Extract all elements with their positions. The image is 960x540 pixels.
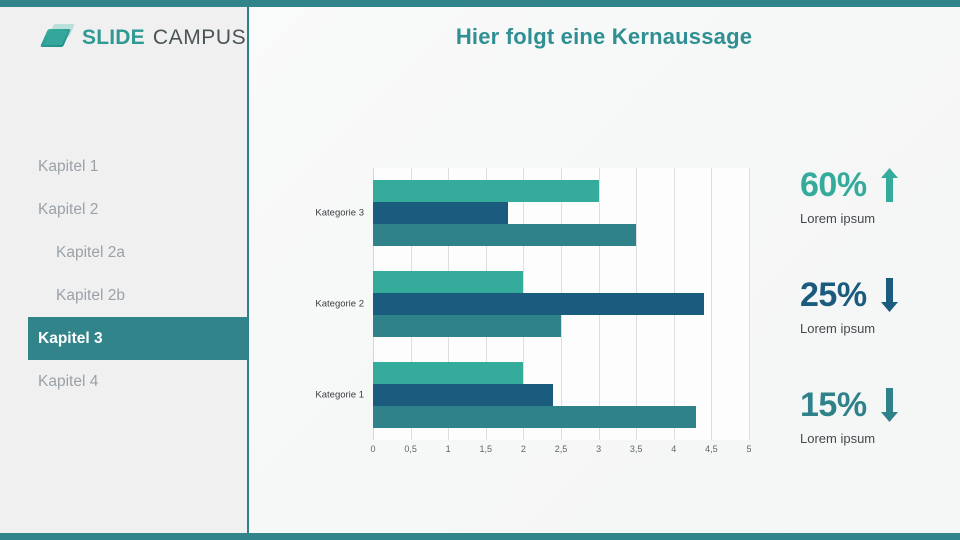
slide-canvas: SLIDE CAMPUS Kapitel 1Kapitel 2Kapitel 2… (0, 0, 960, 540)
chart-bar (373, 202, 508, 224)
kpi-list: 60%Lorem ipsum25%Lorem ipsum15%Lorem ips… (800, 168, 960, 498)
sidebar-item-kapitel-2b[interactable]: Kapitel 2b (0, 274, 248, 317)
arrow-down-icon (881, 388, 898, 422)
kpi-value: 25% (800, 278, 867, 312)
chart-bar (373, 315, 561, 337)
slide-stack-icon (44, 24, 74, 51)
chart-category-label: Kategorie 3 (292, 208, 364, 219)
sidebar-item-kapitel-1[interactable]: Kapitel 1 (0, 145, 248, 188)
arrow-down-icon (881, 278, 898, 312)
chart-gridline (711, 168, 712, 440)
chart-category-label: Kategorie 2 (292, 299, 364, 310)
chart-x-tick-label: 4 (671, 444, 676, 454)
chart-x-axis: 00,511,522,533,544,55 (373, 444, 749, 460)
chart-x-tick-label: 3 (596, 444, 601, 454)
sidebar-item-kapitel-4[interactable]: Kapitel 4 (0, 360, 248, 403)
bottom-accent-bar (0, 533, 960, 540)
chart-x-tick-label: 2 (521, 444, 526, 454)
sidebar-item-kapitel-2[interactable]: Kapitel 2 (0, 188, 248, 231)
brand-name-primary: SLIDE (82, 26, 145, 50)
chart-bar (373, 384, 553, 406)
kpi-card: 15%Lorem ipsum (800, 388, 960, 498)
chart-x-tick-label: 1,5 (480, 444, 493, 454)
sidebar-item-kapitel-3[interactable]: Kapitel 3 (28, 317, 248, 360)
arrow-up-icon (881, 168, 898, 202)
chart-x-tick-label: 0 (370, 444, 375, 454)
brand-logo[interactable]: SLIDE CAMPUS (44, 24, 246, 51)
top-accent-bar (0, 0, 960, 7)
sidebar-item-kapitel-2a[interactable]: Kapitel 2a (0, 231, 248, 274)
sidebar-nav: Kapitel 1Kapitel 2Kapitel 2aKapitel 2bKa… (0, 145, 248, 403)
chart-category-labels: Kategorie 3Kategorie 2Kategorie 1 (296, 168, 368, 440)
chart-bar (373, 293, 704, 315)
sidebar-item-label: Kapitel 1 (0, 158, 98, 176)
kpi-card: 60%Lorem ipsum (800, 168, 960, 278)
chart-bar (373, 271, 523, 293)
chart-x-tick-label: 5 (746, 444, 751, 454)
chart-bar (373, 406, 696, 428)
sidebar-item-label: Kapitel 2 (0, 201, 98, 219)
sidebar-item-label: Kapitel 2a (0, 244, 125, 262)
chart-x-tick-label: 0,5 (404, 444, 417, 454)
bar-chart: Kategorie 3Kategorie 2Kategorie 1 00,511… (296, 168, 756, 460)
kpi-card: 25%Lorem ipsum (800, 278, 960, 388)
chart-bar (373, 224, 636, 246)
chart-gridline (749, 168, 750, 440)
sidebar-item-label: Kapitel 2b (0, 287, 125, 305)
sidebar-item-label: Kapitel 4 (0, 373, 98, 391)
kpi-caption: Lorem ipsum (800, 321, 960, 336)
page-title: Hier folgt eine Kernaussage (248, 24, 960, 50)
chart-x-tick-label: 4,5 (705, 444, 718, 454)
chart-x-tick-label: 3,5 (630, 444, 643, 454)
brand-name-secondary: CAMPUS (153, 26, 246, 50)
chart-category-label: Kategorie 1 (292, 389, 364, 400)
chart-x-tick-label: 2,5 (555, 444, 568, 454)
sidebar-item-label: Kapitel 3 (28, 330, 103, 348)
chart-bar (373, 362, 523, 384)
kpi-value: 15% (800, 388, 867, 422)
kpi-value: 60% (800, 168, 867, 202)
chart-x-tick-label: 1 (446, 444, 451, 454)
chart-plot-area (373, 168, 749, 440)
kpi-caption: Lorem ipsum (800, 211, 960, 226)
kpi-caption: Lorem ipsum (800, 431, 960, 446)
chart-bar (373, 180, 599, 202)
